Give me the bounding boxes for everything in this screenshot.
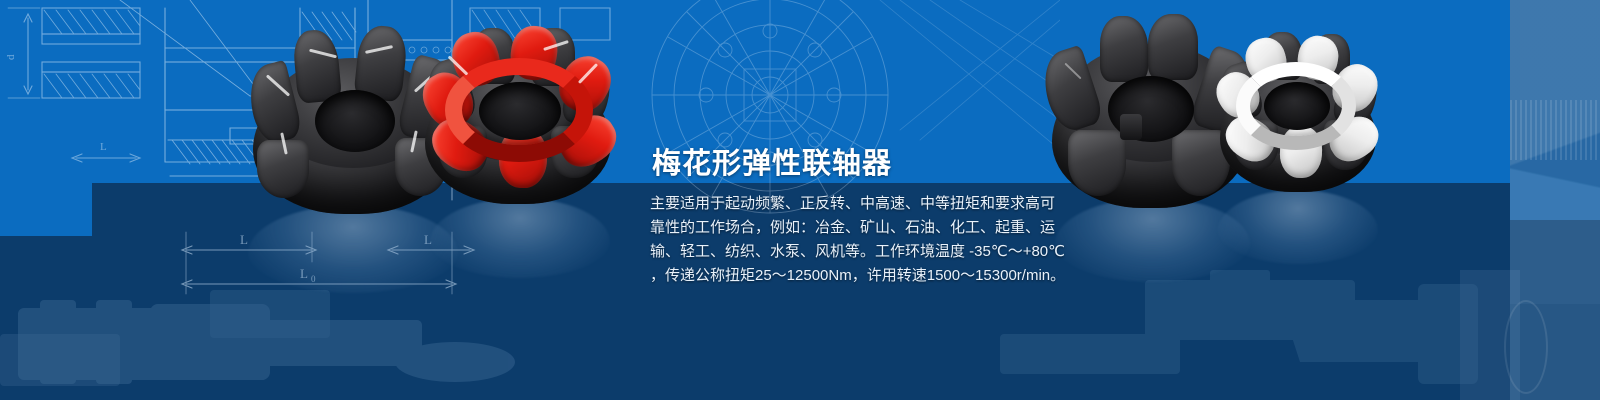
description-line-2: 靠性的工作场合，例如：冶金、矿山、石油、化工、起重、运 xyxy=(650,216,1050,240)
description-line-4: ，传递公称扭矩25～12500Nm，许用转速1500～15300r/min。 xyxy=(650,264,1050,288)
product-jaw-coupling-hub-white-spider xyxy=(1212,24,1382,196)
background-bright-blue-step xyxy=(0,183,92,236)
product-description: 主要适用于起动频繁、正反转、中高速、中等扭矩和要求高可 靠性的工作场合，例如：冶… xyxy=(650,192,1050,288)
product-banner: d xyxy=(0,0,1600,400)
description-line-3: 输、轻工、纺织、水泵、风机等。工作环境温度 -35℃～+80℃ xyxy=(650,240,1050,264)
product-jaw-coupling-hub-red-spider xyxy=(415,16,620,206)
description-line-1: 主要适用于起动频繁、正反转、中高速、中等扭矩和要求高可 xyxy=(650,192,1050,216)
page-title: 梅花形弹性联轴器 xyxy=(652,140,892,182)
background-right-machine-photo xyxy=(1510,0,1600,400)
reflection-left-hub-1 xyxy=(248,205,458,293)
